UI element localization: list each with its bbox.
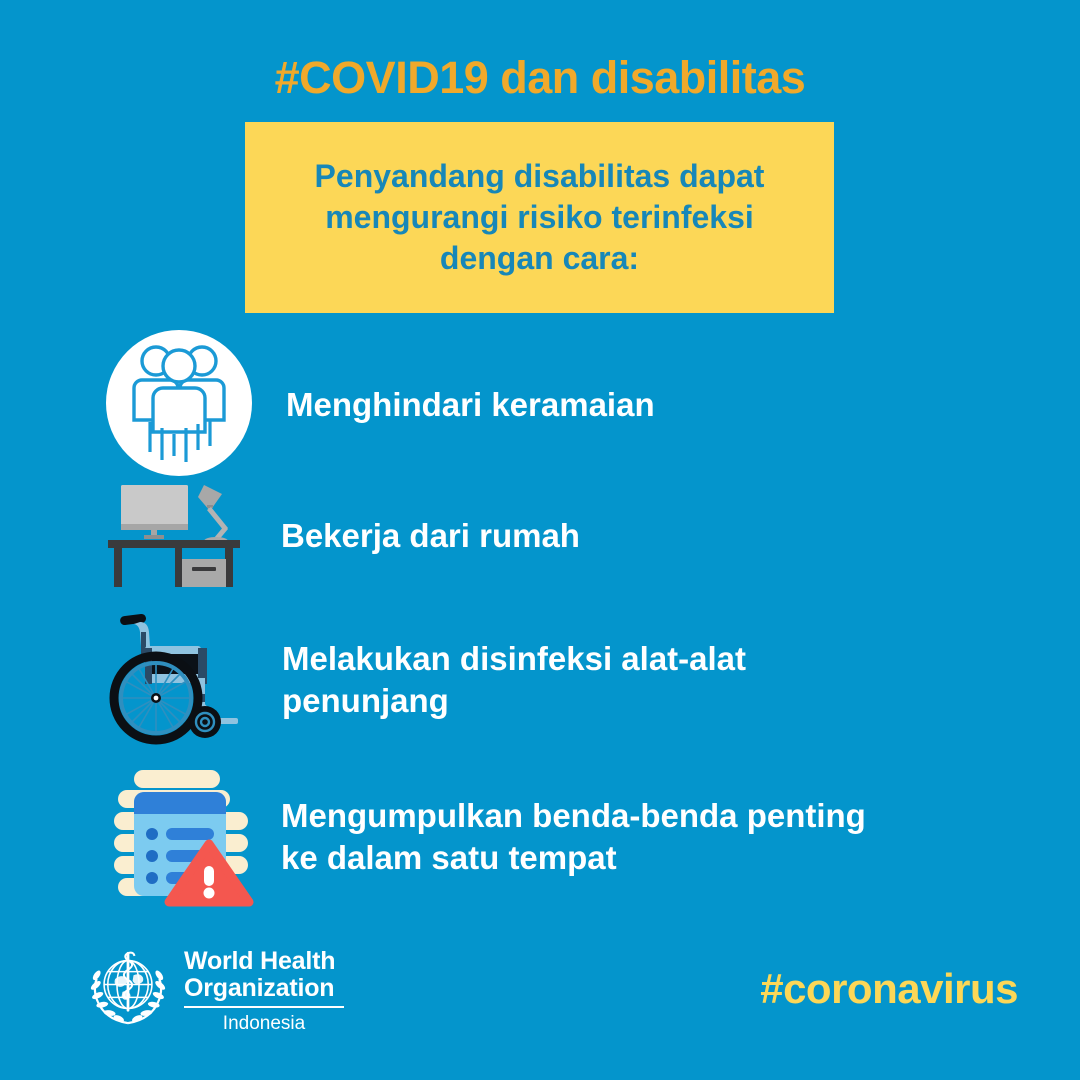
crowd-icon <box>104 328 254 483</box>
page-title: #COVID19 dan disabilitas <box>0 52 1080 104</box>
wheelchair-icon <box>104 610 254 750</box>
who-emblem-icon <box>82 944 174 1041</box>
who-divider <box>184 1006 344 1008</box>
tip-label: Melakukan disinfeksi alat-alat penunjang <box>282 638 746 722</box>
tip-label: Bekerja dari rumah <box>281 515 580 557</box>
desk-work-icon <box>104 476 249 596</box>
poster-canvas: #COVID19 dan disabilitas Penyandang disa… <box>0 0 1080 1080</box>
who-country-label: Indonesia <box>184 1013 344 1035</box>
tip-row-gather-essentials: Mengumpulkan benda-benda penting ke dala… <box>104 762 866 912</box>
who-wordmark: World Health Organization Indonesia <box>184 948 344 1035</box>
callout-box: Penyandang disabilitas dapat mengurangi … <box>245 122 834 313</box>
who-logo: World Health Organization Indonesia <box>82 944 344 1041</box>
who-org-line-1: World Health <box>184 948 344 975</box>
hashtag-coronavirus: #coronavirus <box>760 965 1018 1013</box>
tip-row-work-from-home: Bekerja dari rumah <box>104 476 580 596</box>
tip-row-disinfect-equipment: Melakukan disinfeksi alat-alat penunjang <box>104 610 746 750</box>
tip-label: Mengumpulkan benda-benda penting ke dala… <box>281 795 866 879</box>
tip-row-avoid-crowds: Menghindari keramaian <box>104 328 655 483</box>
emergency-kit-checklist-icon <box>104 762 259 912</box>
who-org-line-2: Organization <box>184 975 344 1002</box>
tip-label: Menghindari keramaian <box>286 384 655 426</box>
callout-text: Penyandang disabilitas dapat mengurangi … <box>297 156 783 279</box>
